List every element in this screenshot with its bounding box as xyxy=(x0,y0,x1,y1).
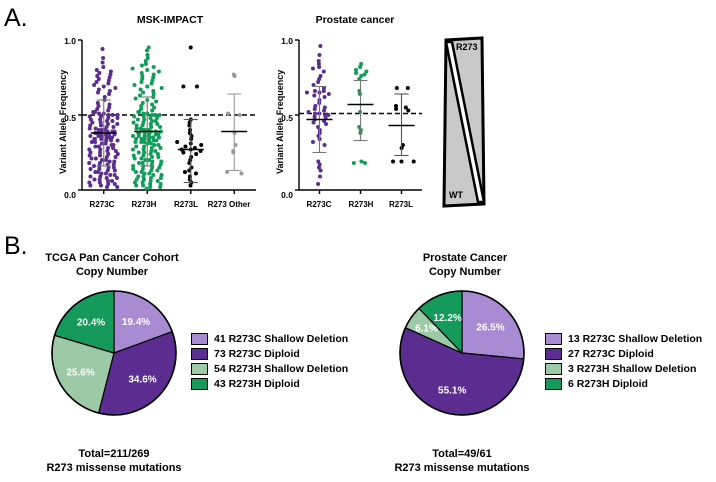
legend-label: 27 R273C Diploid xyxy=(568,348,654,360)
prostate-ytick-3: 0.0 xyxy=(273,190,293,200)
left-pie-total: Total=211/269 xyxy=(34,447,194,461)
msk-xtick-r273-other: R273 Other xyxy=(201,200,257,209)
legend-swatch-r273c-shallow-deletion xyxy=(191,333,208,345)
legend-item: 27 R273C Diploid xyxy=(545,348,702,360)
msk-xtick-r273h: R273H xyxy=(124,200,164,209)
legend-label: 73 R273C Diploid xyxy=(214,348,300,360)
legend-item: 41 R273C Shallow Deletion xyxy=(191,333,348,345)
legend-item: 13 R273C Shallow Deletion xyxy=(545,333,702,345)
legend-label: 3 R273H Shallow Deletion xyxy=(568,363,696,375)
right-pie-total: Total=49/61 xyxy=(382,447,542,461)
panel-b-label: B. xyxy=(4,232,28,261)
left-pie-title: TCGA Pan Cancer Cohort Copy Number xyxy=(32,252,192,280)
right-pie-subtitle: R273 missense mutations xyxy=(382,461,542,475)
r273-wt-allele-diagram xyxy=(432,36,494,208)
legend-label: 6 R273H Diploid xyxy=(568,378,648,390)
msk-ytick-3: 0.0 xyxy=(56,190,76,200)
right-pie-title-line1: Prostate Cancer xyxy=(390,252,540,266)
legend-swatch-r273c-shallow-deletion xyxy=(545,333,562,345)
right-pie-legend: 13 R273C Shallow Deletion 27 R273C Diplo… xyxy=(545,333,702,393)
svg-text:55.1%: 55.1% xyxy=(438,386,466,397)
legend-item: 43 R273H Diploid xyxy=(191,378,348,390)
legend-label: 43 R273H Diploid xyxy=(214,378,300,390)
right-pie-title: Prostate Cancer Copy Number xyxy=(390,252,540,280)
legend-swatch-r273h-shallow-deletion xyxy=(545,363,562,375)
legend-swatch-r273h-shallow-deletion xyxy=(191,363,208,375)
legend-swatch-r273c-diploid xyxy=(191,348,208,360)
legend-swatch-r273h-diploid xyxy=(191,378,208,390)
left-pie-title-line2: Copy Number xyxy=(32,266,192,280)
legend-item: 6 R273H Diploid xyxy=(545,378,702,390)
diagram-label-wt: WT xyxy=(449,190,463,200)
legend-swatch-r273h-diploid xyxy=(545,378,562,390)
svg-text:12.2%: 12.2% xyxy=(433,313,461,324)
svg-text:20.4%: 20.4% xyxy=(77,318,105,329)
svg-text:19.4%: 19.4% xyxy=(122,317,150,328)
left-pie-footer: Total=211/269 R273 missense mutations xyxy=(34,447,194,476)
svg-text:26.5%: 26.5% xyxy=(476,323,504,334)
right-pie-footer: Total=49/61 R273 missense mutations xyxy=(382,447,542,476)
legend-item: 3 R273H Shallow Deletion xyxy=(545,363,702,375)
svg-text:25.6%: 25.6% xyxy=(66,367,94,378)
legend-label: 13 R273C Shallow Deletion xyxy=(568,333,702,345)
svg-text:34.6%: 34.6% xyxy=(128,374,156,385)
msk-impact-title: MSK-IMPACT xyxy=(110,14,230,26)
legend-label: 54 R273H Shallow Deletion xyxy=(214,363,348,375)
prostate-ytick-1: 1.0 xyxy=(273,36,293,46)
left-pie-legend: 41 R273C Shallow Deletion 73 R273C Diplo… xyxy=(191,333,348,393)
msk-impact-scatter-plot xyxy=(80,40,256,198)
prostate-scatter-plot xyxy=(297,40,422,198)
legend-item: 54 R273H Shallow Deletion xyxy=(191,363,348,375)
msk-ytick-2: 0.5 xyxy=(56,113,76,123)
left-pie-title-line1: TCGA Pan Cancer Cohort xyxy=(32,252,192,266)
diagram-label-r273: R273 xyxy=(456,42,478,52)
right-pie-chart: 26.5%55.1%6.1%12.2% xyxy=(397,288,527,418)
msk-ytick-1: 1.0 xyxy=(56,36,76,46)
legend-item: 73 R273C Diploid xyxy=(191,348,348,360)
left-pie-chart: 19.4%34.6%25.6%20.4% xyxy=(49,288,179,418)
prostate-ytick-2: 0.5 xyxy=(273,113,293,123)
legend-swatch-r273c-diploid xyxy=(545,348,562,360)
prostate-scatter-title: Prostate cancer xyxy=(300,14,410,26)
legend-label: 41 R273C Shallow Deletion xyxy=(214,333,348,345)
msk-xtick-r273c: R273C xyxy=(82,200,122,209)
panel-a-label: A. xyxy=(4,4,28,33)
prostate-xtick-r273l: R273L xyxy=(380,200,422,209)
prostate-xtick-r273c: R273C xyxy=(298,200,340,209)
right-pie-title-line2: Copy Number xyxy=(390,266,540,280)
left-pie-subtitle: R273 missense mutations xyxy=(34,461,194,475)
msk-xtick-r273l: R273L xyxy=(166,200,206,209)
prostate-xtick-r273h: R273H xyxy=(340,200,382,209)
